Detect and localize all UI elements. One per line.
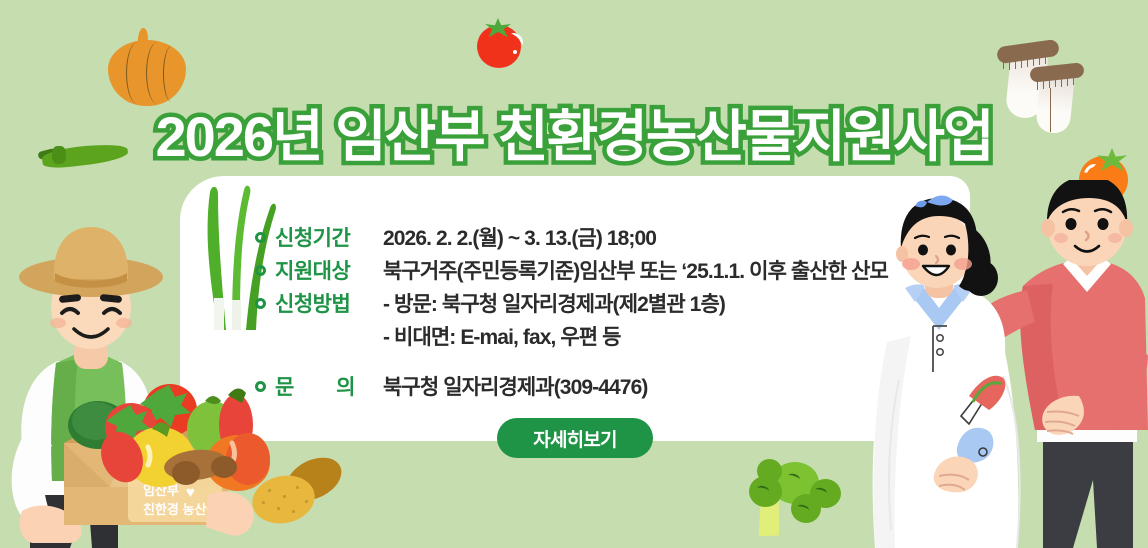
view-details-button[interactable]: 자세히보기 <box>497 418 653 458</box>
info-value: - 방문: 북구청 일자리경제과(제2별관 1층) <box>383 288 725 318</box>
svg-text:♥: ♥ <box>186 484 195 501</box>
title-container: 2026년 임산부 친환경농산물지원사업 <box>0 92 1148 173</box>
info-row-how-to-apply-online: - 비대면: E-mai, fax, 우편 등 <box>255 321 888 354</box>
info-list: 신청기간 2026. 2. 2.(월) ~ 3. 13.(금) 18;00 지원… <box>255 222 888 404</box>
info-value: 북구청 일자리경제과(309-4476) <box>383 371 647 401</box>
info-row-eligibility: 지원대상 북구거주(주민등록기준)임산부 또는 ‘25.1.1. 이후 출산한 … <box>255 255 888 288</box>
info-label: 신청기간 <box>275 222 383 252</box>
page-title: 2026년 임산부 친환경농산물지원사업 <box>156 92 993 173</box>
bullet-icon <box>255 298 266 309</box>
promo-banner: 2026년 임산부 친환경농산물지원사업 신청기간 2026. 2. 2.(월)… <box>0 0 1148 548</box>
info-value: 2026. 2. 2.(월) ~ 3. 13.(금) 18;00 <box>383 222 656 252</box>
family-illustration <box>865 180 1148 548</box>
info-row-contact: 문 의 북구청 일자리경제과(309-4476) <box>255 371 888 404</box>
info-value: 북구거주(주민등록기준)임산부 또는 ‘25.1.1. 이후 출산한 산모 <box>383 255 888 285</box>
bullet-icon <box>255 265 266 276</box>
bullet-icon <box>255 232 266 243</box>
info-label: 지원대상 <box>275 255 383 285</box>
info-value: - 비대면: E-mai, fax, 우편 등 <box>383 321 621 351</box>
info-row-how-to-apply: 신청방법 - 방문: 북구청 일자리경제과(제2별관 1층) <box>255 288 888 321</box>
farmer-illustration: 임산부 ♥ 친한경 농산물 <box>0 195 270 548</box>
info-label: 신청방법 <box>275 288 383 318</box>
bullet-icon <box>255 381 266 392</box>
info-label: 문 의 <box>275 371 383 401</box>
info-row-application-period: 신청기간 2026. 2. 2.(월) ~ 3. 13.(금) 18;00 <box>255 222 888 255</box>
